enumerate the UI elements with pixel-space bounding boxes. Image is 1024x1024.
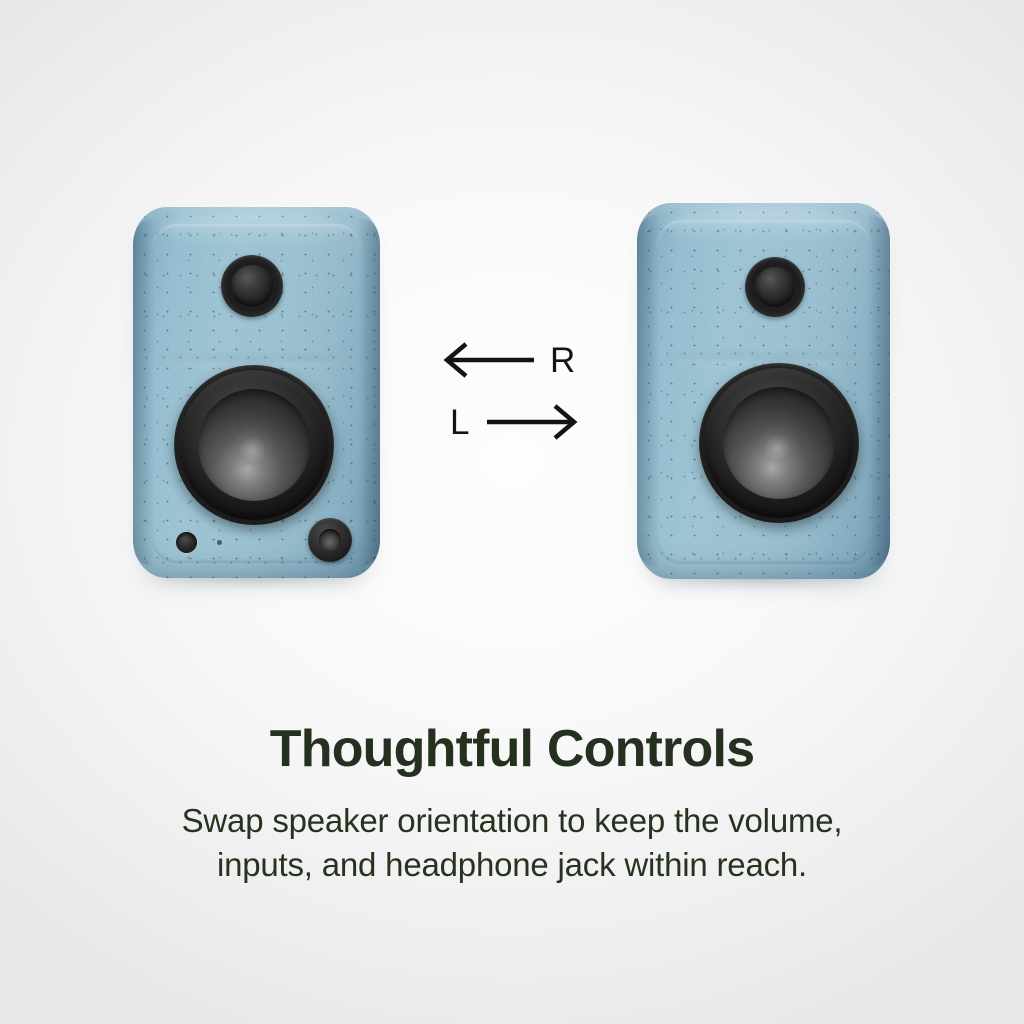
caption-block: Thoughtful Controls Swap speaker orienta… bbox=[0, 722, 1024, 887]
product-feature-card: { "card": { "background_color": "#fafafa… bbox=[0, 0, 1024, 1024]
feature-description: Swap speaker orientation to keep the vol… bbox=[40, 799, 984, 887]
swap-orientation-indicator: R L bbox=[440, 330, 600, 450]
tweeter-dome bbox=[755, 267, 796, 308]
arrow-left-icon bbox=[440, 340, 536, 380]
cabinet-left-edge-shading bbox=[133, 218, 155, 567]
tweeter-driver-icon bbox=[221, 255, 283, 317]
left-speaker-cabinet bbox=[133, 207, 380, 578]
headphone-jack-icon[interactable] bbox=[176, 532, 197, 553]
swap-label-right: R bbox=[550, 343, 575, 378]
right-speaker[interactable] bbox=[637, 203, 890, 579]
right-speaker-cabinet bbox=[637, 203, 890, 579]
speaker-stage: R L bbox=[0, 0, 1024, 700]
woofer-driver-icon bbox=[699, 363, 859, 523]
cabinet-left-edge-shading bbox=[637, 214, 660, 567]
woofer-driver-icon bbox=[174, 365, 334, 525]
led-indicator-icon bbox=[217, 540, 222, 545]
volume-knob-inner bbox=[319, 529, 340, 550]
cabinet-right-edge-shading bbox=[358, 218, 380, 567]
cabinet-right-edge-shading bbox=[867, 214, 890, 567]
feature-description-line-2: inputs, and headphone jack within reach. bbox=[40, 843, 984, 887]
cabinet-top-highlight bbox=[158, 213, 356, 246]
tweeter-dome bbox=[231, 265, 273, 307]
swap-label-left: L bbox=[450, 405, 469, 440]
cabinet-top-highlight bbox=[662, 209, 864, 243]
swap-row-right: R bbox=[440, 338, 600, 382]
swap-row-left: L bbox=[440, 400, 600, 444]
volume-knob-icon[interactable] bbox=[308, 518, 352, 562]
feature-description-line-1: Swap speaker orientation to keep the vol… bbox=[40, 799, 984, 843]
feature-title: Thoughtful Controls bbox=[40, 722, 984, 777]
arrow-right-icon bbox=[485, 402, 581, 442]
tweeter-driver-icon bbox=[745, 257, 805, 317]
left-speaker[interactable] bbox=[133, 207, 380, 578]
